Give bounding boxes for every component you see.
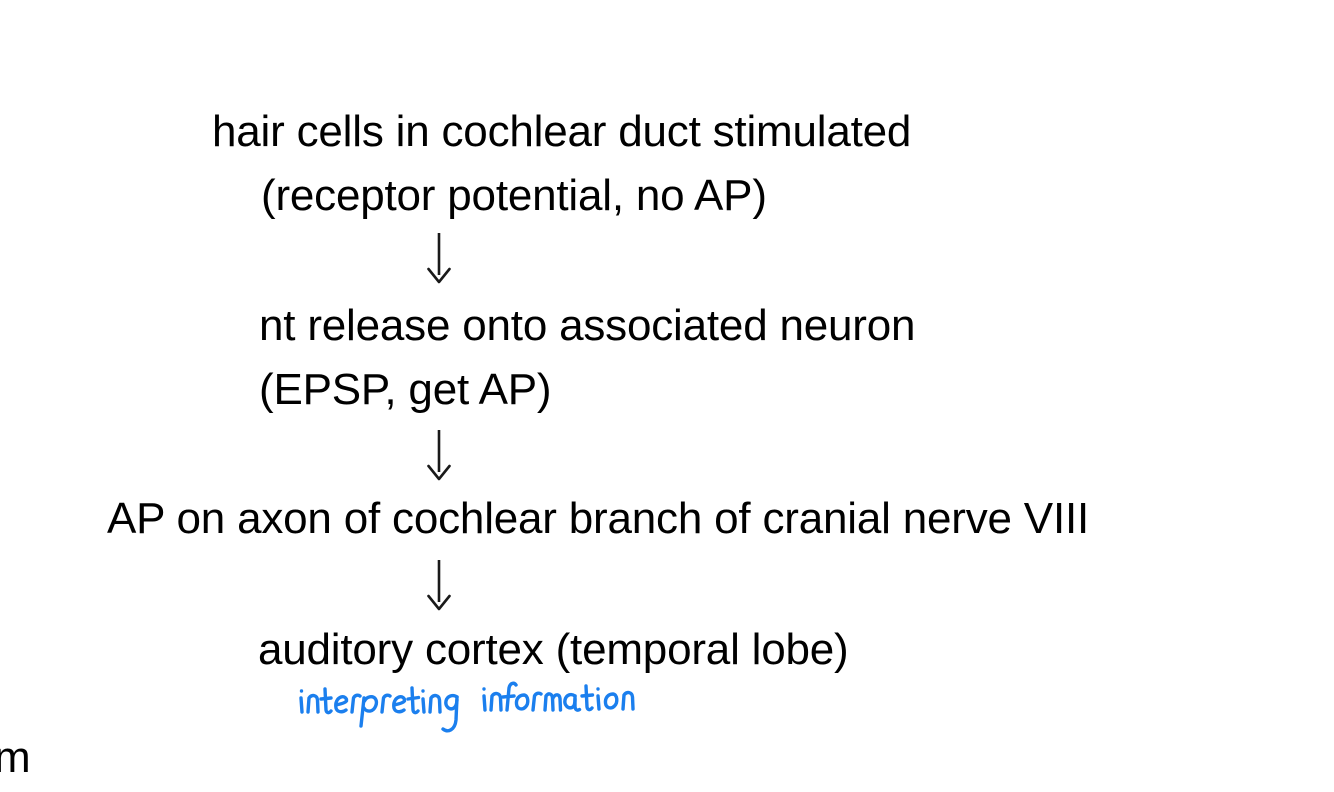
clipped-partial-text: m	[0, 736, 31, 780]
arrow-down-icon	[418, 559, 460, 613]
handwritten-annotation	[296, 676, 636, 738]
flow-step-1-line-2: (receptor potential, no AP)	[261, 174, 767, 218]
slide-canvas: hair cells in cochlear duct stimulated (…	[0, 0, 1334, 792]
flow-step-1-line-1: hair cells in cochlear duct stimulated	[212, 110, 911, 154]
flow-step-2-line-2: (EPSP, get AP)	[259, 368, 551, 412]
arrow-down-icon	[418, 429, 460, 483]
arrow-down-icon	[418, 232, 460, 286]
flow-step-2-line-1: nt release onto associated neuron	[259, 304, 915, 348]
flow-step-4-line-1: auditory cortex (temporal lobe)	[258, 628, 849, 672]
flow-step-3-line-1: AP on axon of cochlear branch of cranial…	[107, 497, 1089, 541]
